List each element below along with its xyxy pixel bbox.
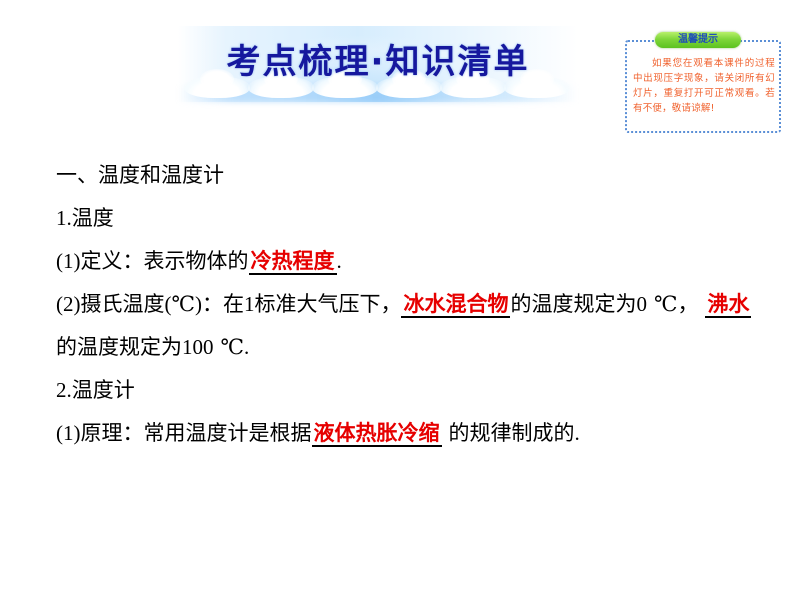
item1-sub1-answer: 冷热程度 [249, 249, 337, 275]
item1-sub2-prefix: (2)摄氏温度(℃)：在1标准大气压下， [56, 292, 401, 316]
item1-sub1-prefix: (1)定义：表示物体的 [56, 249, 249, 273]
item1-sub2-line: (2)摄氏温度(℃)：在1标准大气压下，冰水混合物的温度规定为0℃，沸水的温度规… [56, 283, 756, 369]
item1-sub2-mid1: 的温度规定为0 [510, 292, 647, 316]
item2-heading: 2.温度计 [56, 369, 756, 412]
item1-sub2-unit2: ℃. [221, 335, 250, 359]
title-banner: 考点梳理·知识清单 [178, 26, 578, 102]
item1-sub1-line: (1)定义：表示物体的冷热程度. [56, 240, 756, 283]
item2-sub1-prefix: (1)原理：常用温度计是根据 [56, 421, 312, 445]
tip-badge-label: 温馨提示 [678, 35, 718, 45]
page-title: 考点梳理·知识清单 [178, 34, 578, 83]
item1-sub2-answer1: 冰水混合物 [401, 292, 510, 318]
item1-sub2-mid2: 的温度规定为100 [56, 335, 214, 359]
item2-sub1-answer: 液体热胀冷缩 [312, 421, 442, 447]
content-body: 一、温度和温度计 1.温度 (1)定义：表示物体的冷热程度. (2)摄氏温度(℃… [56, 154, 756, 455]
section-heading: 一、温度和温度计 [56, 154, 756, 197]
item1-sub2-answer2: 沸水 [705, 292, 751, 318]
item1-sub1-suffix: . [337, 249, 342, 273]
tip-badge: 温馨提示 [655, 32, 741, 48]
item1-sub2-unit1: ℃， [654, 292, 699, 316]
tip-box: 温馨提示 如果您在观看本课件的过程中出现压字现象，请关闭所有幻灯片，重复打开可正… [625, 40, 781, 133]
slide-root: { "slide": { "title": "考点梳理·知识清单", "tip"… [0, 0, 800, 600]
tip-body-text: 如果您在观看本课件的过程中出现压字现象，请关闭所有幻灯片，重复打开可正常观看。若… [633, 56, 775, 116]
item2-sub1-suffix: 的规律制成的. [449, 421, 580, 445]
item2-sub1-line: (1)原理：常用温度计是根据液体热胀冷缩的规律制成的. [56, 412, 756, 455]
item1-heading: 1.温度 [56, 197, 756, 240]
